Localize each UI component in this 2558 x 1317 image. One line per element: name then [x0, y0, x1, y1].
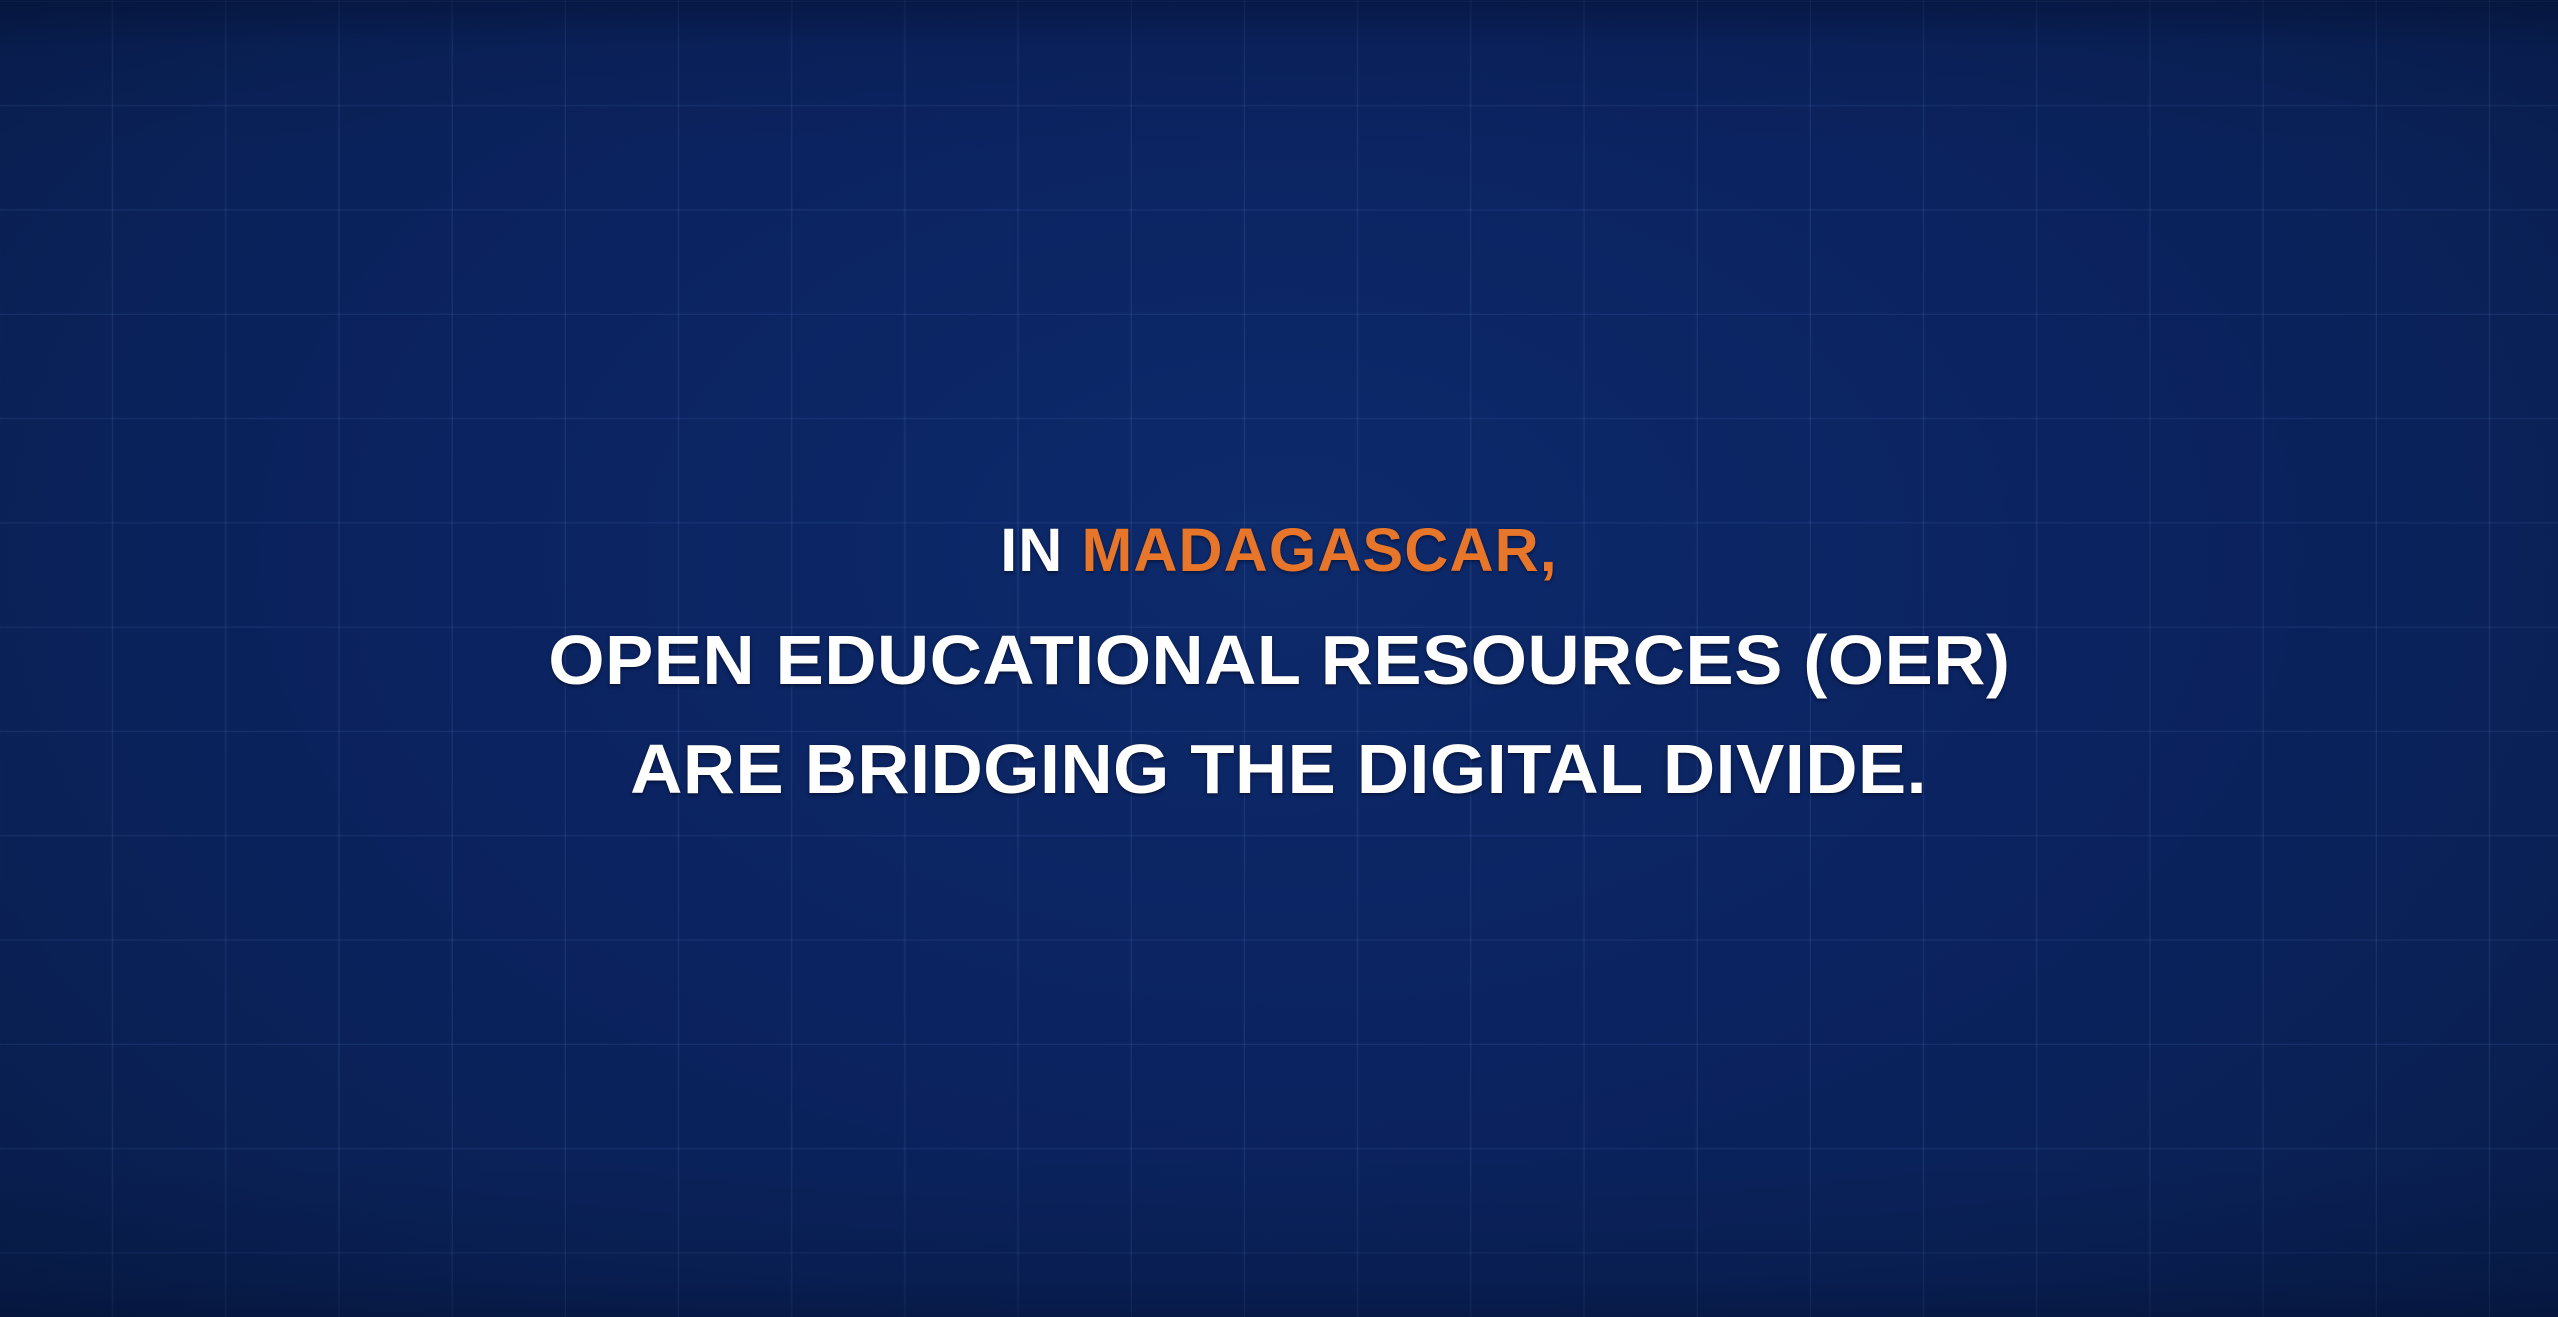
slide-canvas: IN MADAGASCAR, OPEN EDUCATIONAL RESOURCE…: [0, 0, 2558, 1317]
background-grid-pattern-soft: [0, 0, 2558, 1317]
